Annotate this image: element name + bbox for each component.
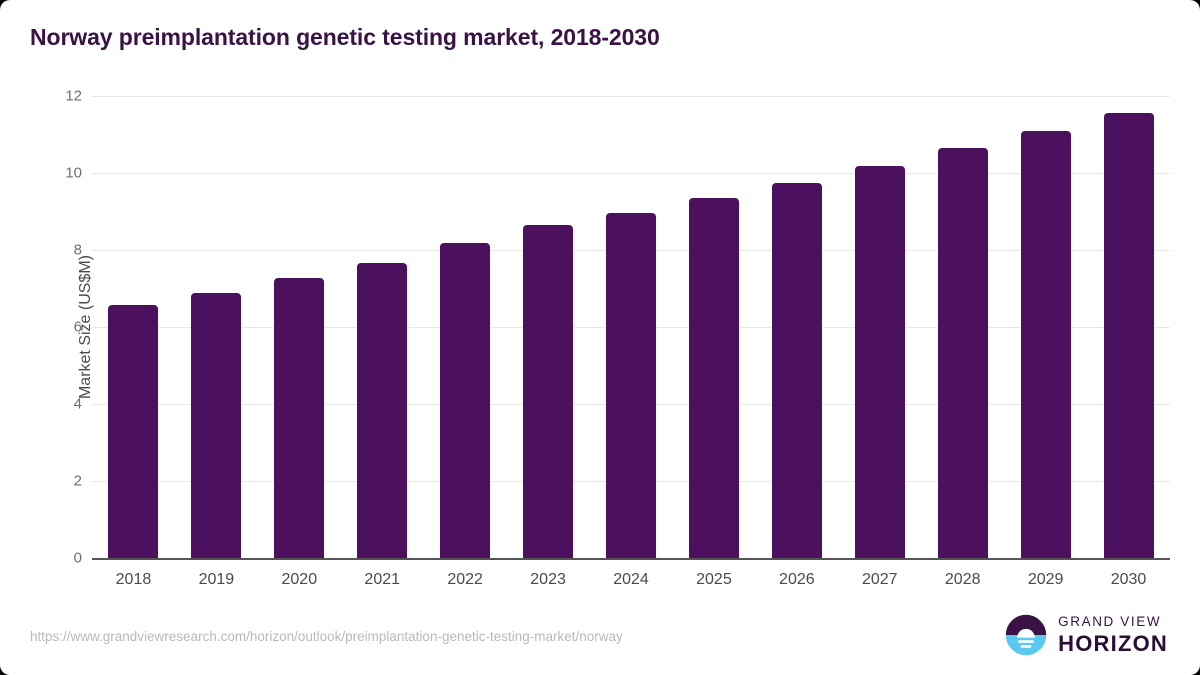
x-axis-tick-label: 2026 [756,571,838,589]
brand-logo-text: GRAND VIEW HORIZON [1058,615,1168,655]
horizon-logo-icon [1004,613,1048,657]
bar-2027[interactable] [855,166,905,558]
x-axis-line [92,558,1170,560]
x-axis-tick-label: 2023 [507,571,589,589]
brand-logo: GRAND VIEW HORIZON [1004,613,1168,657]
x-axis-tick-label: 2022 [424,571,506,589]
x-axis-tick-label: 2021 [341,571,423,589]
y-axis-tick-label: 12 [8,88,82,105]
bar-2028[interactable] [938,148,988,558]
x-axis-tick-label: 2029 [1005,571,1087,589]
brand-name-line2: HORIZON [1058,633,1168,655]
gridline [92,173,1170,174]
bar-2026[interactable] [772,183,822,558]
bar-2018[interactable] [108,305,158,558]
bar-2022[interactable] [440,243,490,558]
x-axis-tick-label: 2024 [590,571,672,589]
bar-2030[interactable] [1104,113,1154,558]
bar-2023[interactable] [523,225,573,558]
y-axis-tick-label: 2 [8,473,82,490]
page-title: Norway preimplantation genetic testing m… [30,24,660,51]
x-axis-tick-label: 2019 [175,571,257,589]
bar-2020[interactable] [274,278,324,558]
bar-2029[interactable] [1021,131,1071,558]
x-axis-tick-label: 2018 [92,571,174,589]
y-axis-tick-label: 10 [8,165,82,182]
y-axis-tick-label: 4 [8,396,82,413]
bar-2024[interactable] [606,213,656,558]
x-axis-tick-label: 2030 [1088,571,1170,589]
brand-name-line1: GRAND VIEW [1058,615,1168,629]
bar-2025[interactable] [689,198,739,558]
chart-card: Norway preimplantation genetic testing m… [0,0,1200,675]
bar-2021[interactable] [357,263,407,558]
bar-2019[interactable] [191,293,241,558]
x-axis-tick-label: 2020 [258,571,340,589]
y-axis-tick-label: 0 [8,550,82,567]
x-axis-tick-label: 2028 [922,571,1004,589]
plot-area [92,96,1170,558]
y-axis-tick-label: 8 [8,242,82,259]
source-url[interactable]: https://www.grandviewresearch.com/horizo… [30,629,623,644]
y-axis-tick-label: 6 [8,319,82,336]
gridline [92,96,1170,97]
x-axis-tick-label: 2025 [673,571,755,589]
x-axis-tick-label: 2027 [839,571,921,589]
